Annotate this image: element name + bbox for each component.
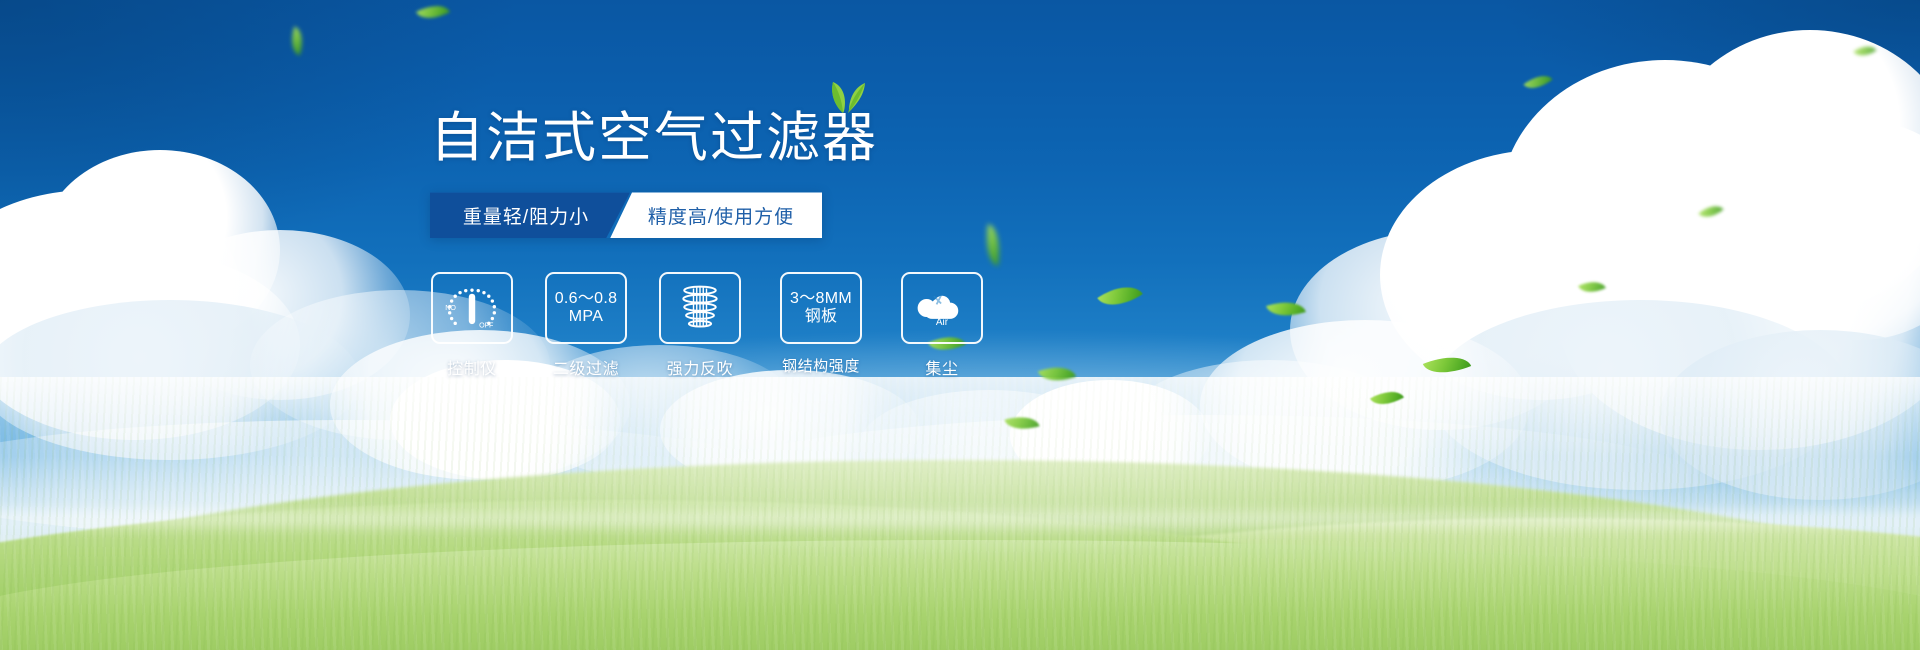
grass-horizon-haze [0,377,1920,457]
feature-item: 强力反吹 [658,272,742,379]
hero-banner: 自洁式空气过滤器 重量轻/阻力小 精度高/使用方便 [0,0,1920,650]
feature-label: 控制仪 [447,355,497,379]
feature-label: 强力反吹 [667,355,733,379]
gauge-on-label: NO [445,304,456,312]
tag-lightweight-low-resistance: 重量轻/阻力小 [430,192,630,238]
tagline-group: 重量轻/阻力小 精度高/使用方便 [430,192,822,238]
feature-icon-box [659,272,741,344]
steel-plate-text-icon: 3〜8MM [790,290,852,308]
pressure-unit-text: MPA [569,308,603,326]
feature-item: NO OFF 控制仪 [430,272,514,379]
air-cloud-icon: Air [914,288,970,328]
filter-cartridge-icon [674,282,726,334]
gauge-off-label: OFF [479,322,494,330]
feature-list: NO OFF 控制仪 0.6〜0.8 MPA 二级过滤 [430,272,1130,379]
gauge-dial-icon: NO OFF [442,283,502,333]
sprout-leaves-icon [824,80,870,114]
pressure-text-icon: 0.6〜0.8 [555,290,618,308]
feature-item: 3〜8MM 钢板 钢结构强度 [772,272,870,379]
banner-title: 自洁式空气过滤器 [430,108,878,168]
steel-plate-unit-text: 钢板 [805,308,838,326]
title-block: 自洁式空气过滤器 [430,108,878,168]
air-cloud-label: Air [936,318,949,329]
tag-high-precision-easy-use: 精度高/使用方便 [610,192,822,238]
feature-label: 二级过滤 [553,355,619,379]
grass-field [0,377,1920,650]
feature-icon-box: 3〜8MM 钢板 [780,272,862,344]
feature-item: 0.6〜0.8 MPA 二级过滤 [544,272,628,379]
feature-icon-box: Air [901,272,983,344]
feature-label: 钢结构强度 [782,355,860,376]
feature-label: 集尘 [925,355,958,379]
feature-icon-box: NO OFF [431,272,513,344]
feature-icon-box: 0.6〜0.8 MPA [545,272,627,344]
feature-item: Air 集尘 [900,272,984,379]
banner-content: 自洁式空气过滤器 重量轻/阻力小 精度高/使用方便 [430,108,1130,379]
